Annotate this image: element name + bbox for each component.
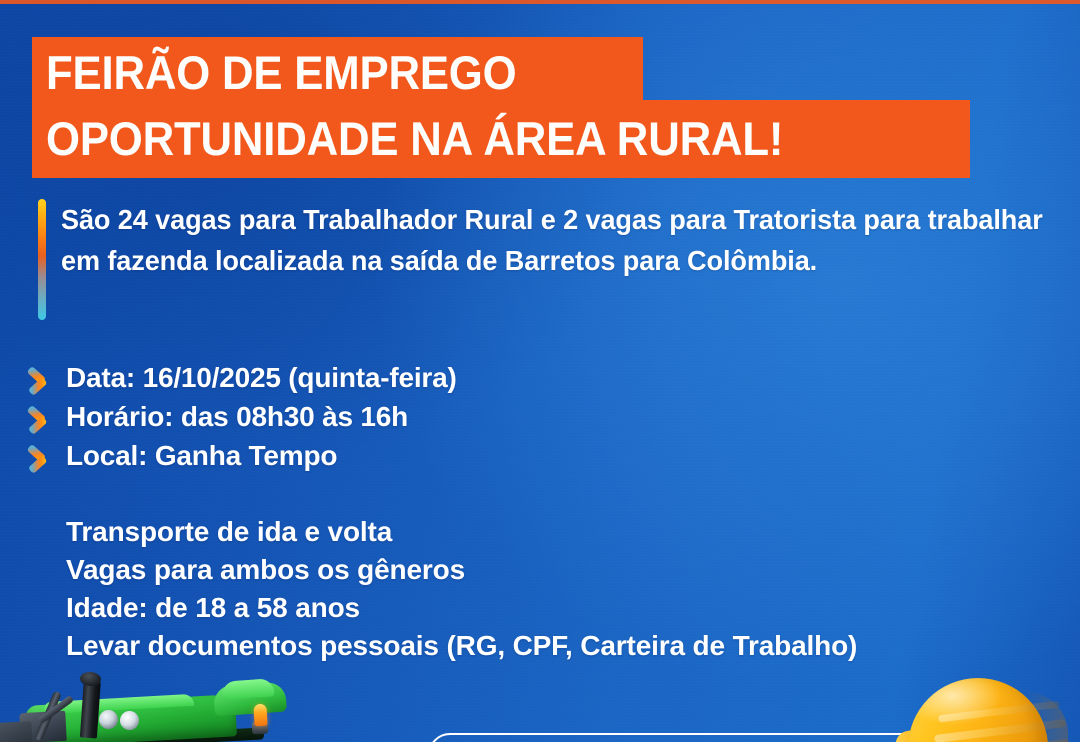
hard-hat-shading <box>1026 692 1068 742</box>
requirement-line: Vagas para ambos os gêneros <box>66 551 1076 589</box>
chevron-right-icon <box>31 404 60 429</box>
job-fair-poster: FEIRÃO DE EMPREGO OPORTUNIDADE NA ÁREA R… <box>0 0 1080 742</box>
gradient-accent-rule <box>38 199 46 320</box>
green-tractor-icon <box>0 678 276 742</box>
list-item: Local: Ganha Tempo <box>31 436 731 475</box>
top-orange-strip <box>0 0 1080 4</box>
chevron-right-icon <box>31 365 60 390</box>
list-item-label: Local: Ganha Tempo <box>66 442 337 470</box>
hard-hat-dome <box>908 678 1048 742</box>
list-item-label: Data: 16/10/2025 (quinta-feira) <box>66 364 457 392</box>
tractor-front-weight <box>0 721 33 742</box>
headline-line-2: OPORTUNIDADE NA ÁREA RURAL! <box>46 115 783 162</box>
tractor-amber-beacon <box>253 704 267 727</box>
headline-line-1: FEIRÃO DE EMPREGO <box>46 49 516 96</box>
list-item: Data: 16/10/2025 (quinta-feira) <box>31 358 731 397</box>
intro-paragraph-block: São 24 vagas para Trabalhador Rural e 2 … <box>38 199 1058 320</box>
headline-banner: FEIRÃO DE EMPREGO OPORTUNIDADE NA ÁREA R… <box>32 37 970 178</box>
tractor-cab-roof-highlight <box>221 678 274 700</box>
intro-paragraph-text: São 24 vagas para Trabalhador Rural e 2 … <box>61 199 1043 281</box>
chevron-right-icon <box>31 443 60 468</box>
requirement-line: Levar documentos pessoais (RG, CPF, Cart… <box>66 627 1076 665</box>
event-info-list: Data: 16/10/2025 (quinta-feira) Horário:… <box>31 358 731 475</box>
requirement-line: Transporte de ida e volta <box>66 513 1076 551</box>
list-item: Horário: das 08h30 às 16h <box>31 397 731 436</box>
requirement-line: Idade: de 18 a 58 anos <box>66 589 1076 627</box>
requirements-block: Transporte de ida e volta Vagas para amb… <box>66 513 1076 665</box>
list-item-label: Horário: das 08h30 às 16h <box>66 403 408 431</box>
yellow-hard-hat-icon <box>890 676 1066 742</box>
